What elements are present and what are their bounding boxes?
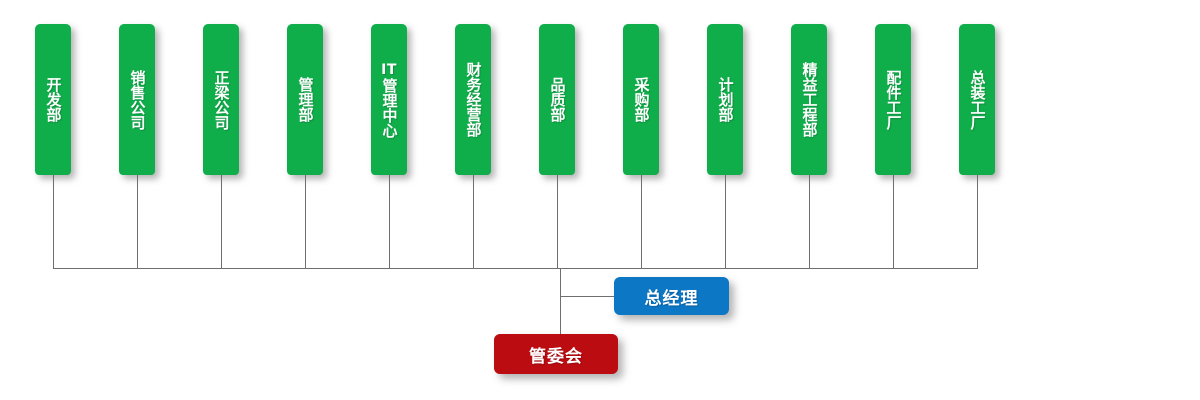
committee-box[interactable]: 管委会 — [494, 334, 618, 374]
general-manager-box[interactable]: 总经理 — [614, 277, 729, 315]
general-manager-label: 总经理 — [645, 284, 699, 309]
org-chart: 开发部 销售公司 正梁公司 管理部 IT 管理中心 财务经营部 品质部 采购部 … — [0, 0, 1200, 400]
dept-label: IT 管理中心 — [381, 62, 398, 138]
connector-branch-gm — [560, 296, 615, 297]
dept-label: 销售公司 — [129, 70, 146, 130]
dept-box-peijiangongchang[interactable]: 配件工厂 — [875, 24, 911, 175]
dept-box-jingyigongchengbu[interactable]: 精益工程部 — [791, 24, 827, 175]
dept-box-caigoubu[interactable]: 采购部 — [623, 24, 659, 175]
dept-box-zhenglianggongsi[interactable]: 正梁公司 — [203, 24, 239, 175]
dept-label: 正梁公司 — [213, 70, 230, 130]
connector-drop-9 — [725, 175, 726, 268]
connector-drop-7 — [557, 175, 558, 268]
committee-label: 管委会 — [529, 342, 583, 367]
dept-label: 计划部 — [717, 77, 734, 122]
connector-drop-6 — [473, 175, 474, 268]
connector-spine-committee — [560, 268, 561, 336]
connector-bus — [53, 268, 978, 269]
connector-drop-11 — [893, 175, 894, 268]
dept-label: 配件工厂 — [885, 70, 902, 130]
dept-box-it-guanlizhongxin[interactable]: IT 管理中心 — [371, 24, 407, 175]
dept-box-zongzhuanggongchang[interactable]: 总装工厂 — [959, 24, 995, 175]
dept-label-cjk: 管理中心 — [381, 78, 398, 138]
connector-drop-4 — [305, 175, 306, 268]
connector-drop-10 — [809, 175, 810, 268]
dept-label: 财务经营部 — [465, 62, 482, 137]
dept-label: 总装工厂 — [969, 70, 986, 130]
dept-label: 采购部 — [633, 77, 650, 122]
dept-box-jihuabu[interactable]: 计划部 — [707, 24, 743, 175]
dept-label: 精益工程部 — [801, 62, 818, 137]
dept-box-pinzhibu[interactable]: 品质部 — [539, 24, 575, 175]
dept-box-kaifabu[interactable]: 开发部 — [35, 24, 71, 175]
connector-drop-12 — [977, 175, 978, 268]
dept-label: 管理部 — [297, 77, 314, 122]
dept-label: 开发部 — [45, 77, 62, 122]
dept-label-latin: IT — [381, 62, 397, 78]
dept-box-xiaoshougongsi[interactable]: 销售公司 — [119, 24, 155, 175]
dept-label: 品质部 — [549, 77, 566, 122]
dept-box-caiwujingyingbu[interactable]: 财务经营部 — [455, 24, 491, 175]
connector-drop-5 — [389, 175, 390, 268]
connector-drop-2 — [137, 175, 138, 268]
connector-drop-3 — [221, 175, 222, 268]
dept-box-guanlibu[interactable]: 管理部 — [287, 24, 323, 175]
connector-drop-1 — [53, 175, 54, 268]
connector-drop-8 — [641, 175, 642, 268]
